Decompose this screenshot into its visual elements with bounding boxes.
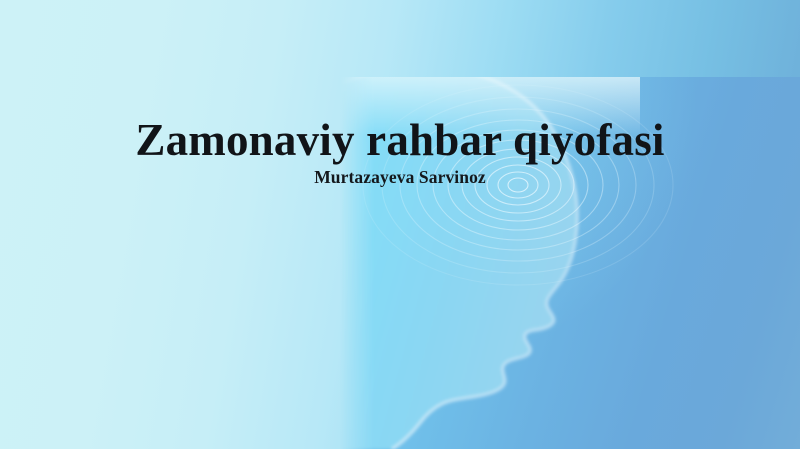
head-silhouette-icon — [340, 77, 800, 449]
head-artwork-image — [340, 77, 800, 449]
presentation-slide: Zamonaviy rahbar qiyofasi Murtazayeva Sa… — [0, 0, 800, 449]
